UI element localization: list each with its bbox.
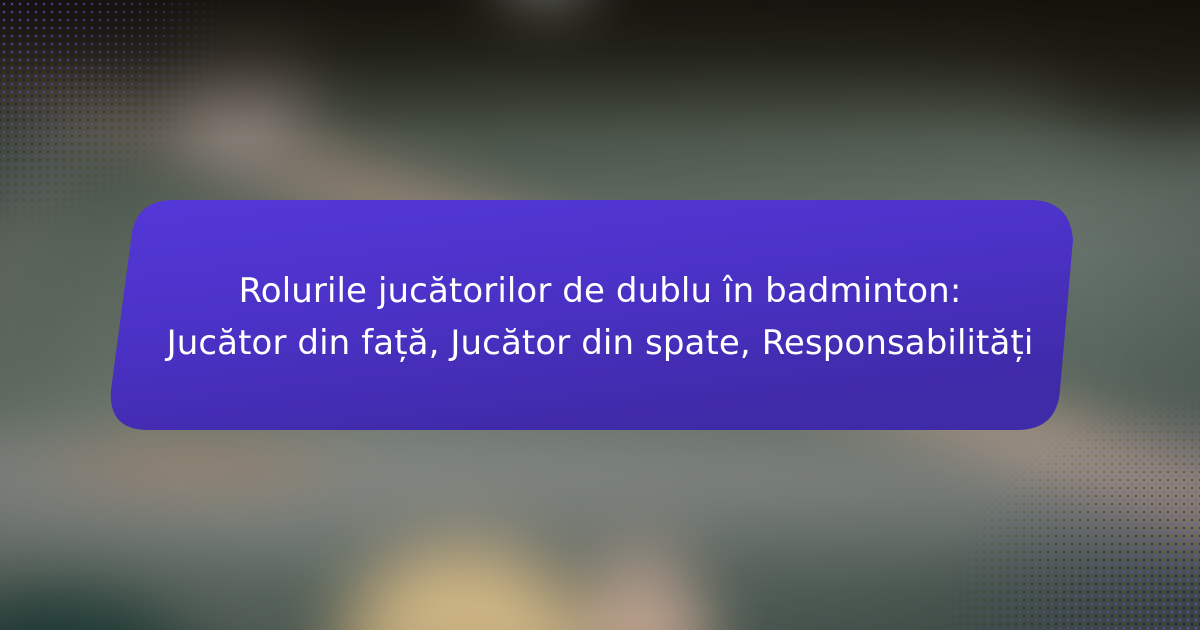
banner-title-block: Rolurile jucătorilor de dublu în badmint… <box>0 198 1200 432</box>
title-line-1: Rolurile jucătorilor de dublu în badmint… <box>239 267 962 315</box>
title-line-2: Jucător din față, Jucător din spate, Res… <box>167 319 1034 367</box>
social-card: Rolurile jucătorilor de dublu în badmint… <box>0 0 1200 630</box>
title-banner: Rolurile jucătorilor de dublu în badmint… <box>0 198 1200 432</box>
